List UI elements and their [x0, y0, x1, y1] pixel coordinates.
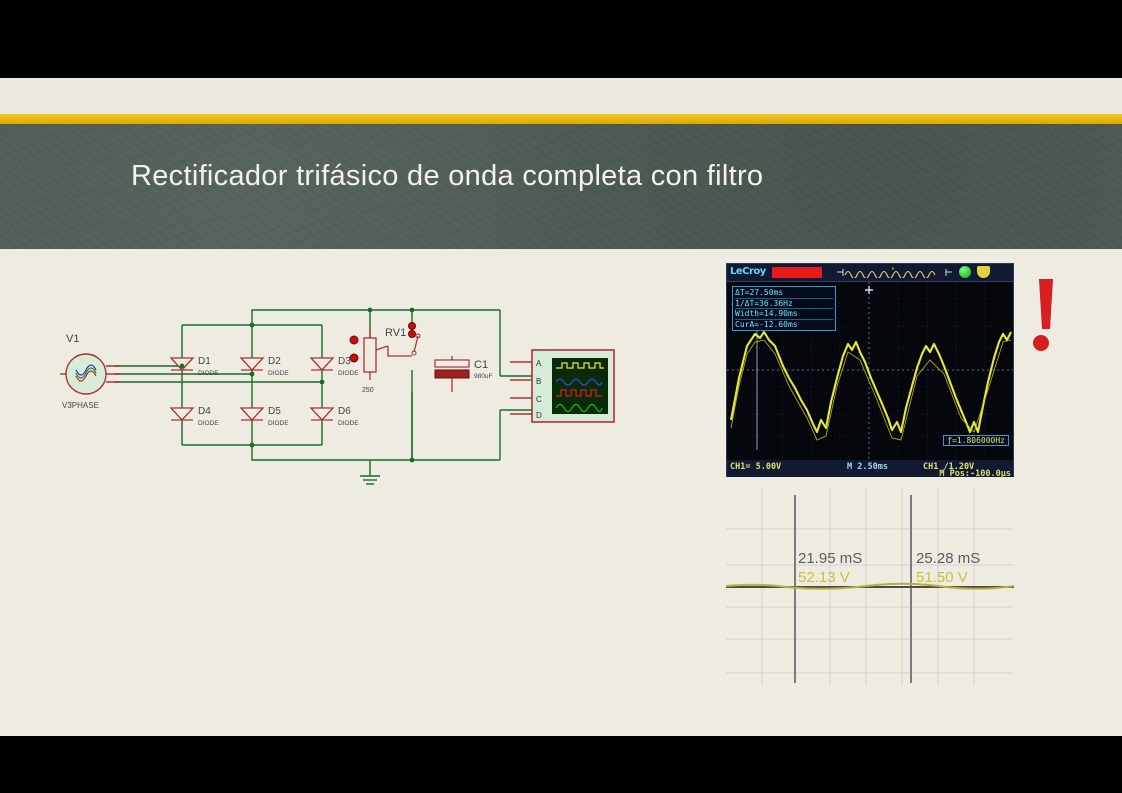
scope-measurement-3: CurA=-12.60ms — [735, 320, 833, 330]
cream-strip — [0, 78, 1122, 114]
scope-waveform-fill — [731, 340, 1011, 440]
scope-display: ΔT=27.50ms 1/ΔT=36.36Hz Width=14.90ms Cu… — [727, 282, 1013, 460]
circuit-wires — [114, 310, 532, 460]
scope-terminal-a: A — [536, 359, 542, 368]
scope-status-badge — [772, 267, 822, 278]
label-d3-type: DIODE — [338, 370, 359, 377]
diode-d6 — [311, 408, 333, 420]
letterbox-top — [0, 0, 1122, 78]
capacitor-c1 — [435, 356, 469, 392]
oscilloscope-part: A B C D — [510, 350, 614, 422]
label-d5-type: DIODE — [268, 420, 289, 427]
label-rv1: RV1 — [385, 327, 406, 339]
scope-waveform — [731, 332, 1011, 432]
cursor-a-time: 21.95 mS — [798, 550, 862, 567]
label-d1: D1 — [198, 356, 211, 367]
label-d6: D6 — [338, 406, 351, 417]
voltage-source-v1 — [60, 354, 120, 394]
lecroy-logo: LeCroy — [730, 266, 766, 277]
letterbox-bottom — [0, 736, 1122, 793]
page-title: Rectificador trifásico de onda completa … — [131, 160, 763, 193]
label-d4: D4 — [198, 406, 211, 417]
cursor-b-time: 25.28 mS — [916, 550, 980, 567]
diode-d4 — [171, 408, 193, 420]
diode-d2 — [241, 358, 263, 370]
label-d4-type: DIODE — [198, 420, 219, 427]
alert-exclamation-icon — [1022, 277, 1068, 353]
scope-statusbar: CH1= 5.00V M 2.50ms CH1 /1.20V M Pos:-10… — [727, 460, 1013, 477]
switch-symbol — [409, 323, 421, 356]
label-d2-type: DIODE — [268, 370, 289, 377]
scope-measurement-0: ΔT=27.50ms — [735, 288, 833, 299]
ground-symbol — [360, 460, 380, 484]
scope-measurement-panel: ΔT=27.50ms 1/ΔT=36.36Hz Width=14.90ms Cu… — [732, 286, 836, 331]
label-c1: C1 — [474, 359, 488, 371]
scope-terminal-d: D — [536, 411, 542, 420]
diode-d3 — [311, 358, 333, 370]
scope-titlebar: LeCroy — [727, 264, 1013, 282]
scope-menu-icon[interactable] — [977, 266, 990, 278]
scope-timebase: M 2.50ms — [847, 462, 888, 472]
label-rv1-value: 250 — [362, 387, 374, 394]
label-d1-type: DIODE — [198, 370, 219, 377]
gold-accent-bar — [0, 114, 1122, 124]
scope-measurement-2: Width=14.90ms — [735, 309, 833, 320]
scope-terminal-c: C — [536, 395, 542, 404]
scope-measurement-1: 1/ΔT=36.36Hz — [735, 299, 833, 310]
diode-d5 — [241, 408, 263, 420]
scope-ch1-scale: CH1= 5.00V — [730, 462, 781, 472]
scope-trigger-marker — [865, 286, 873, 294]
slide-root: Rectificador trifásico de onda completa … — [0, 0, 1122, 793]
scope-run-indicator[interactable] — [959, 266, 971, 278]
label-c1-value: 980uF — [474, 373, 492, 380]
label-d2: D2 — [268, 356, 281, 367]
label-d3: D3 — [338, 356, 351, 367]
label-d6-type: DIODE — [338, 420, 359, 427]
cursor-b-voltage: 51.50 V — [916, 569, 968, 586]
label-v1: V1 — [66, 333, 79, 345]
oscilloscope-screenshot: LeCroy — [726, 263, 1014, 477]
scope-frequency-readout: ƒ=1.806000Hz — [943, 435, 1009, 446]
label-v3phase: V3PHASE — [62, 401, 99, 410]
cursor-measurement-plot: 21.95 mS 52.13 V 25.28 mS 51.50 V — [726, 487, 1014, 685]
scope-horizontal-position: M Pos:-100.0µs — [939, 469, 1011, 479]
scope-waveform-strip — [837, 267, 952, 278]
cursor-a-voltage: 52.13 V — [798, 569, 850, 586]
scope-terminal-b: B — [536, 377, 541, 386]
label-d5: D5 — [268, 406, 281, 417]
circuit-schematic: A B C D V1 V3PHASE D1 DIODE D2 DIODE D3 — [40, 300, 640, 500]
junction-dots — [180, 308, 415, 463]
